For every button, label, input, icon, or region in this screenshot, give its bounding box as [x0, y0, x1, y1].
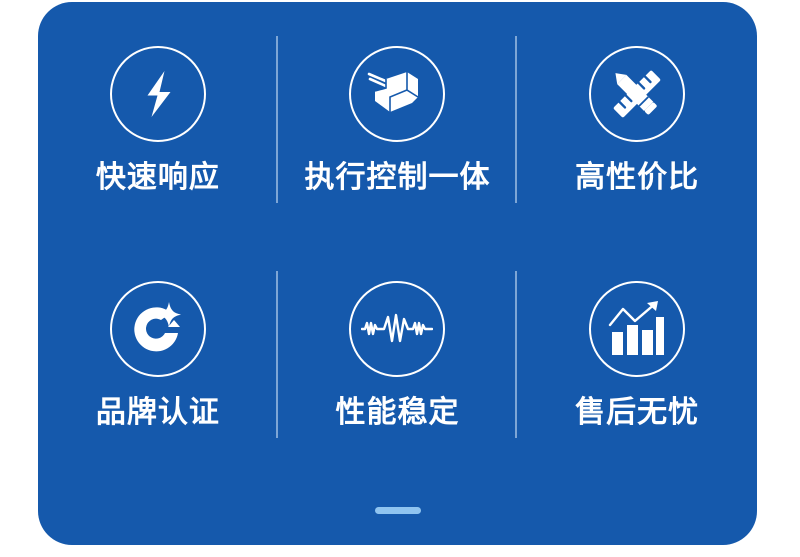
feature-item-integrated-control[interactable]: 执行控制一体 [278, 2, 518, 237]
lightning-bolt-icon [110, 46, 206, 142]
feature-label: 执行控制一体 [304, 163, 490, 193]
pencil-ruler-icon [589, 46, 685, 142]
actuator-device-icon [349, 46, 445, 142]
feature-label: 性能稳定 [335, 398, 459, 428]
feature-label: 高性价比 [575, 163, 699, 193]
feature-item-fast-response[interactable]: 快速响应 [38, 2, 278, 237]
feature-item-brand-certification[interactable]: 品牌认证 [38, 237, 278, 472]
feature-panel: 快速响应 执行控制一体 [38, 2, 757, 545]
feature-item-after-sales[interactable]: 售后无忧 [517, 237, 757, 472]
feature-label: 品牌认证 [96, 398, 220, 428]
feature-item-cost-performance[interactable]: 高性价比 [517, 2, 757, 237]
page-indicator[interactable] [375, 507, 421, 514]
feature-label: 快速响应 [96, 163, 220, 193]
waveform-pulse-icon [349, 281, 445, 377]
feature-label: 售后无忧 [575, 398, 699, 428]
bar-chart-growth-icon [589, 281, 685, 377]
feature-grid: 快速响应 执行控制一体 [38, 2, 757, 472]
brand-certification-icon [110, 281, 206, 377]
feature-item-stable-performance[interactable]: 性能稳定 [278, 237, 518, 472]
